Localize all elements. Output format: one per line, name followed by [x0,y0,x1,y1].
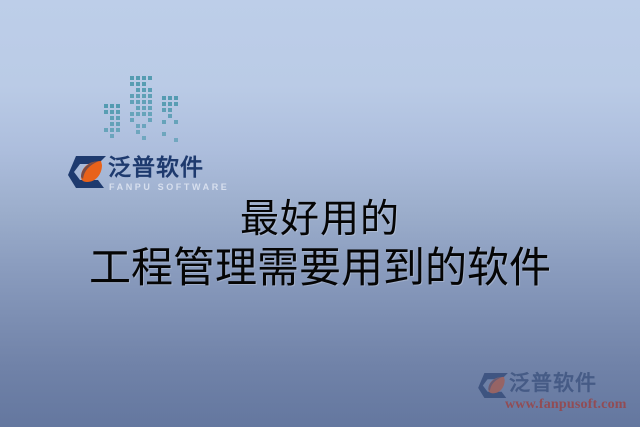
skyline-pixel [130,112,134,116]
skyline-pixel [148,94,152,98]
skyline-pixel [148,76,152,80]
skyline-pixel [174,120,178,124]
skyline-pixel [116,110,120,114]
skyline-pixel [136,94,140,98]
skyline-pixel [130,118,134,122]
brand-logo: 泛普软件 FANPU SOFTWARE [68,154,216,198]
skyline-pixel [174,102,178,106]
skyline-pixel [168,108,172,112]
skyline-pixel [130,82,134,86]
skyline-pixel [136,82,140,86]
watermark-url: www.fanpusoft.com [505,397,627,413]
skyline-pixel [116,128,120,132]
skyline-pixel [168,96,172,100]
skyline-pixel [142,124,146,128]
skyline-pixel [174,96,178,100]
fanpu-logo-mark-icon [68,156,106,188]
skyline-pixel [142,94,146,98]
skyline-pixel [142,112,146,116]
skyline-pixel [174,138,178,142]
headline-line-2: 工程管理需要用到的软件 [0,244,640,292]
skyline-pixel [136,88,140,92]
brand-name-en: FANPU SOFTWARE [109,182,229,193]
skyline-pixel [148,100,152,104]
skyline-pixel [136,106,140,110]
skyline-pixel [104,128,108,132]
skyline-pixel [110,116,114,120]
watermark-brand-name: 泛普软件 [509,370,597,397]
skyline-pixel [168,102,172,106]
skyline-pixel [162,132,166,136]
skyline-pixel [110,122,114,126]
skyline-pixel [142,136,146,140]
skyline-pixel [168,114,172,118]
skyline-pixel [142,82,146,86]
skyline-pixel [104,104,108,108]
watermark: 泛普软件 www.fanpusoft.com [478,370,634,416]
skyline-pixel [116,116,120,120]
page-title: 最好用的 工程管理需要用到的软件 [0,196,640,292]
skyline-pixel [162,120,166,124]
skyline-pixel [116,104,120,108]
skyline-pixel [148,106,152,110]
skyline-pixel [136,130,140,134]
skyline-pixel [142,88,146,92]
skyline-pixel [136,124,140,128]
skyline-pixel [110,134,114,138]
skyline-pixel [130,76,134,80]
headline-line-1: 最好用的 [0,196,640,244]
skyline-pixel [136,112,140,116]
skyline-pixel [162,102,166,106]
skyline-pixel [142,106,146,110]
skyline-pixel [136,100,140,104]
skyline-pixel [130,100,134,104]
skyline-pixel [148,118,152,122]
skyline-pixel [148,88,152,92]
skyline-pixel [148,112,152,116]
brand-name-cn: 泛普软件 [108,154,204,182]
skyline-pixel [130,94,134,98]
skyline-pixel [116,122,120,126]
skyline-pixel [110,110,114,114]
pixel-building-skyline-icon [104,76,192,152]
skyline-pixel [104,110,108,114]
fanpu-logo-mark-icon [478,373,508,398]
skyline-pixel [142,76,146,80]
skyline-pixel [142,100,146,104]
promo-banner: 泛普软件 FANPU SOFTWARE 最好用的 工程管理需要用到的软件 泛普软… [0,0,640,427]
skyline-pixel [110,104,114,108]
skyline-pixel [162,108,166,112]
skyline-pixel [110,128,114,132]
skyline-pixel [162,96,166,100]
skyline-pixel [136,76,140,80]
